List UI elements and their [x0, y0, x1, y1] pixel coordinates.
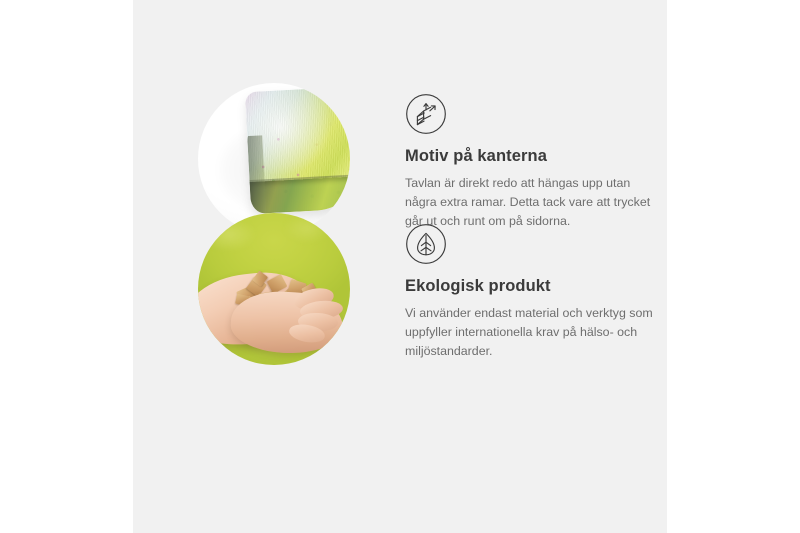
wood-chips-hands-photo — [193, 205, 368, 380]
leaf-icon — [405, 223, 447, 265]
feature-row-eco-product: Ekologisk produkt Vi använder endast mat… — [193, 205, 657, 380]
canvas-wrapped-edge-icon — [405, 93, 447, 135]
product-feature-panel: Motiv på kanterna Tavlan är direkt redo … — [0, 0, 800, 533]
feature-body: Vi använder endast material och verktyg … — [405, 304, 657, 362]
feature-title: Motiv på kanterna — [405, 147, 657, 167]
feature-text-eco-product: Ekologisk produkt Vi använder endast mat… — [368, 205, 657, 361]
content-panel: Motiv på kanterna Tavlan är direkt redo … — [133, 0, 667, 533]
canvas-block — [245, 86, 350, 214]
eco-photo-circle — [198, 213, 350, 365]
feature-title: Ekologisk produkt — [405, 277, 657, 297]
